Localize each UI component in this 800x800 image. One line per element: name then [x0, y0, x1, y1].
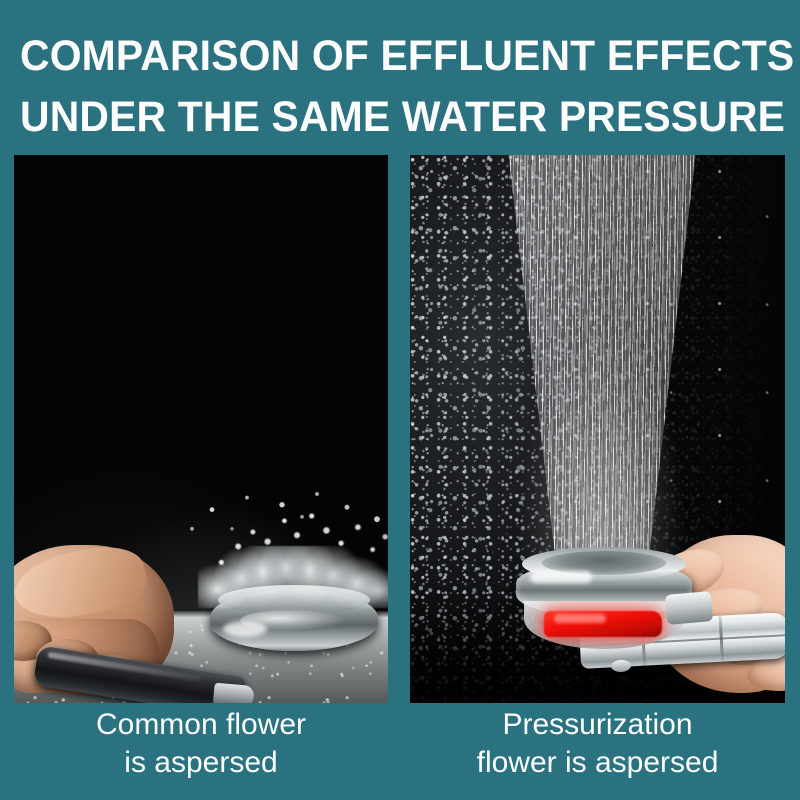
title-line-1: COMPARISON OF EFFLUENT EFFECTS: [20, 26, 780, 87]
common-showerhead-disc: [210, 589, 378, 651]
caption-left-line-2: is aspersed: [14, 744, 388, 782]
title-line-2: UNDER THE SAME WATER PRESSURE: [20, 87, 780, 148]
product-comparison-poster: COMPARISON OF EFFLUENT EFFECTS UNDER THE…: [0, 0, 800, 800]
head-neck-joint: [665, 591, 713, 625]
caption-right-line-1: Pressurization: [410, 706, 785, 744]
comparison-panels: [0, 155, 800, 703]
head-gloss-highlight: [530, 571, 592, 583]
poster-title: COMPARISON OF EFFLUENT EFFECTS UNDER THE…: [0, 26, 800, 148]
caption-right-line-2: flower is aspersed: [410, 744, 785, 782]
red-led-highlight: [554, 614, 606, 623]
caption-pressurization-flower: Pressurization flower is aspersed: [410, 706, 785, 782]
head-translucent-housing: [524, 601, 684, 649]
panel-pressurized-showerhead[interactable]: [410, 155, 785, 703]
caption-left-line-1: Common flower: [14, 706, 388, 744]
caption-common-flower: Common flower is aspersed: [14, 706, 388, 782]
panel-common-showerhead[interactable]: [14, 155, 388, 703]
panel-captions: Common flower is aspersed Pressurization…: [0, 706, 800, 800]
pressurized-showerhead-head: [516, 549, 692, 659]
